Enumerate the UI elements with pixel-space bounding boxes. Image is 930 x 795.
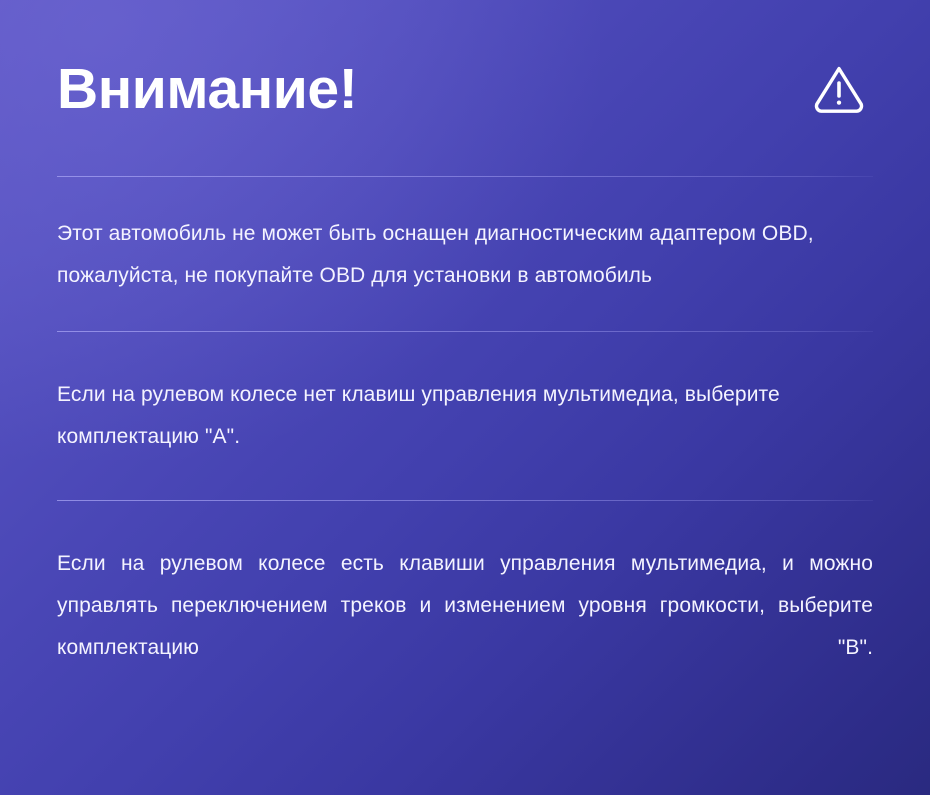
notice-text-trim-b: Если на рулевом колесе есть клавиши упра… [57, 543, 873, 711]
notice-content: Внимание! Этот автомобиль не может быть … [0, 0, 930, 755]
notice-block-trim-a: Если на рулевом колесе нет клавиш управл… [57, 332, 873, 500]
page-title: Внимание! [57, 60, 357, 120]
notice-text-trim-a: Если на рулевом колесе нет клавиш управл… [57, 374, 873, 458]
warning-notice-screen: Внимание! Этот автомобиль не может быть … [0, 0, 930, 795]
notice-text-obd-not-supported: Этот автомобиль не может быть оснащен ди… [57, 213, 873, 297]
notice-header: Внимание! [57, 0, 873, 176]
notice-block-trim-b: Если на рулевом колесе есть клавиши упра… [57, 501, 873, 755]
warning-triangle-icon [813, 64, 865, 116]
warning-icon-wrapper [813, 64, 873, 116]
notice-block-obd-not-supported: Этот автомобиль не может быть оснащен ди… [57, 177, 873, 331]
